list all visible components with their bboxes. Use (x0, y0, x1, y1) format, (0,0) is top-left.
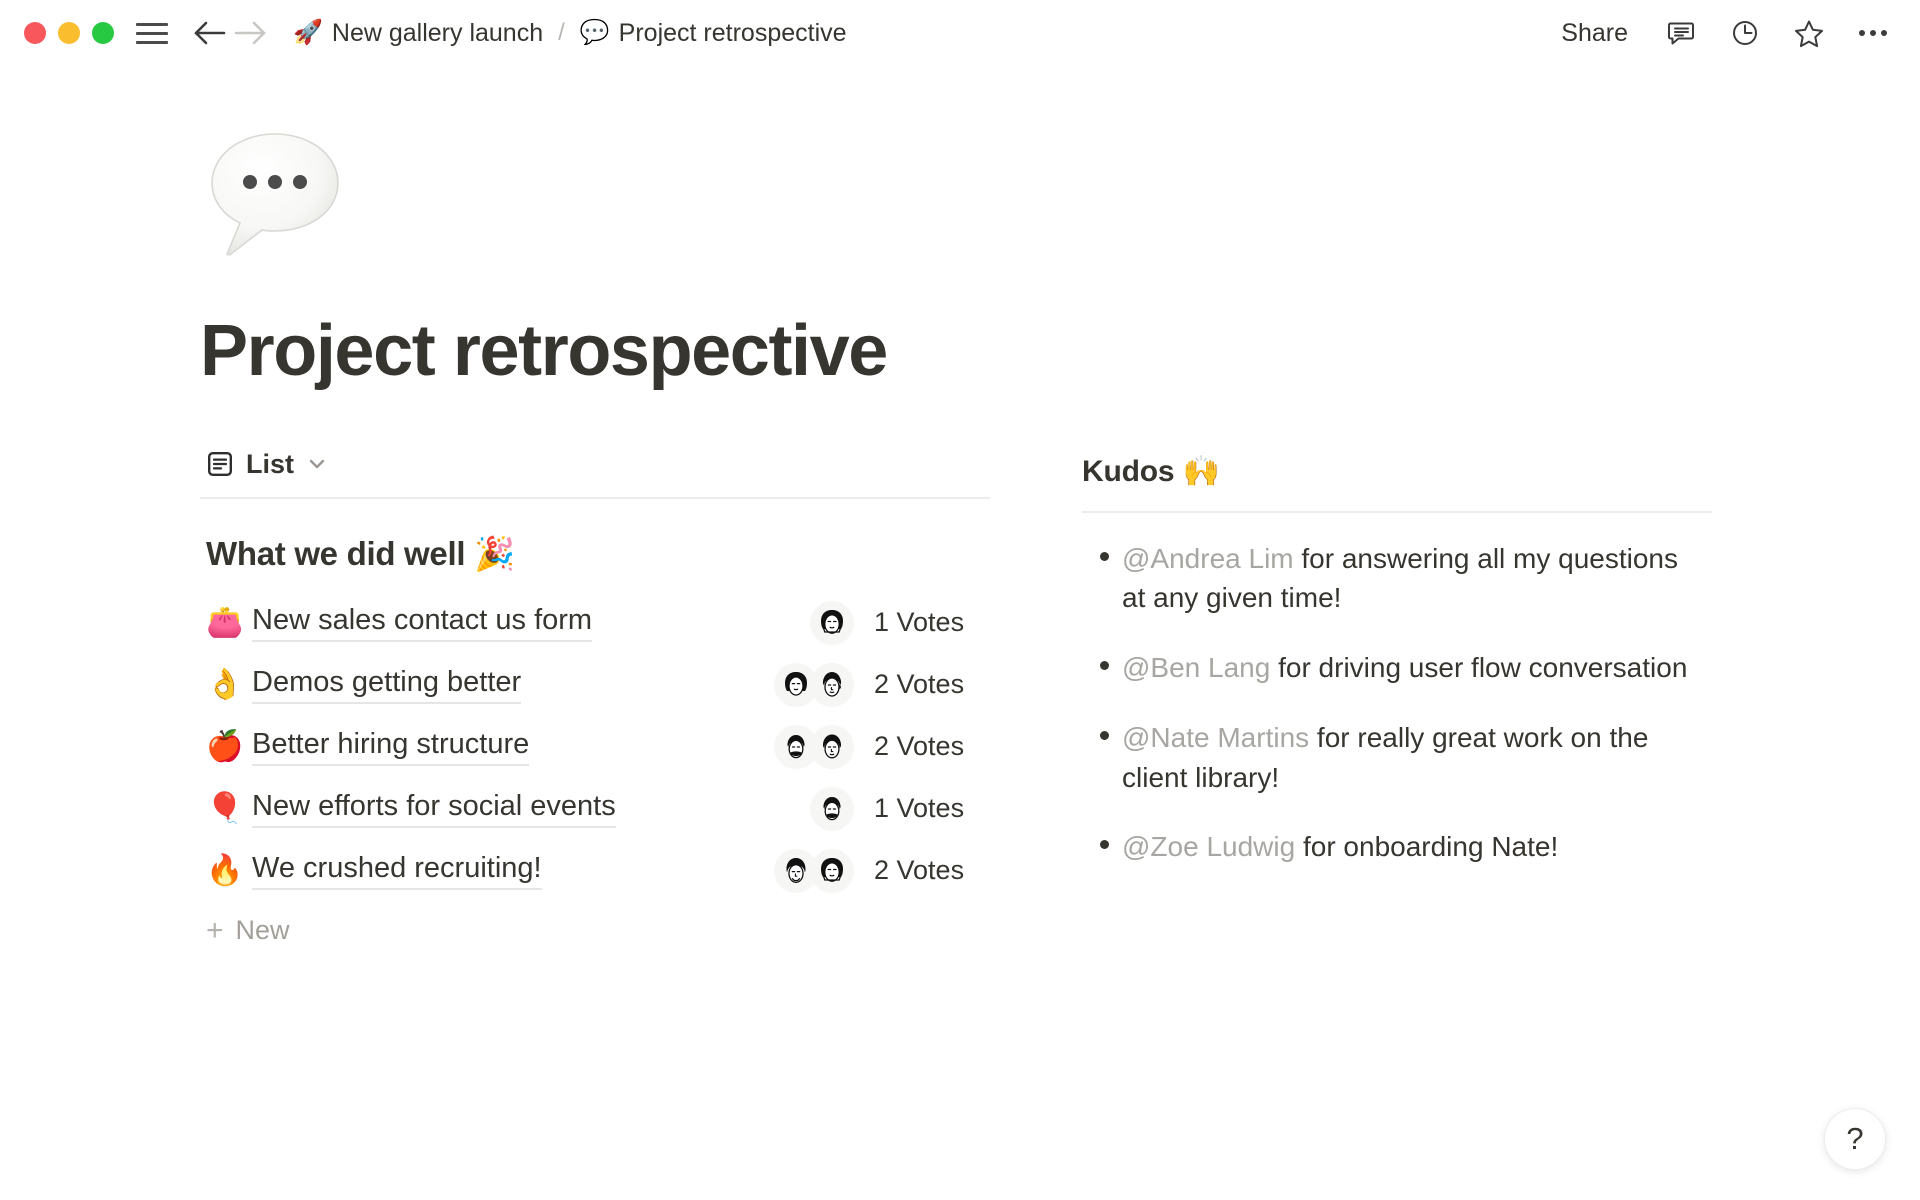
kudos-text: @Nate Martins for really great work on t… (1122, 718, 1702, 798)
close-window-button[interactable] (24, 22, 46, 44)
table-row[interactable]: 🎈 New efforts for social events (200, 778, 990, 840)
database-column: List What we did well 🎉 👛 New sales cont… (200, 446, 990, 960)
breadcrumb-current-label: Project retrospective (619, 19, 847, 48)
bullet-icon (1086, 827, 1122, 849)
kudos-column: Kudos 🙌 @Andrea Lim for answering all my… (1082, 446, 1712, 898)
add-new-row-button[interactable]: + New (200, 902, 990, 960)
row-meta: 1 Votes (750, 601, 984, 645)
list-item[interactable]: @Ben Lang for driving user flow conversa… (1086, 648, 1712, 688)
row-title[interactable]: New sales contact us form (252, 604, 592, 642)
kudos-divider (1082, 511, 1712, 513)
comments-icon (1667, 19, 1695, 47)
arrow-left-icon (193, 20, 227, 46)
row-emoji-icon: 🔥 (206, 856, 252, 886)
arrow-right-icon (233, 20, 267, 46)
window-toolbar: 🚀 New gallery launch / 💬 Project retrosp… (0, 0, 1920, 66)
list-item[interactable]: @Nate Martins for really great work on t… (1086, 718, 1712, 798)
avatar-face-icon (812, 665, 852, 705)
kudos-heading[interactable]: Kudos 🙌 (1082, 454, 1712, 489)
votes-count: 2 Votes (874, 731, 984, 762)
votes-count: 1 Votes (874, 607, 984, 638)
share-button[interactable]: Share (1553, 15, 1636, 52)
votes-count: 2 Votes (874, 855, 984, 886)
database-view-label: List (246, 449, 294, 480)
voter-avatars (750, 725, 854, 769)
kudos-text: @Ben Lang for driving user flow conversa… (1122, 648, 1687, 688)
list-item[interactable]: @Andrea Lim for answering all my questio… (1086, 539, 1712, 619)
chevron-down-icon (306, 453, 328, 475)
row-emoji-icon: 👌 (206, 670, 252, 700)
avatar-face-icon (812, 603, 852, 643)
rocket-icon: 🚀 (293, 21, 323, 45)
database-view-selector[interactable]: List (200, 446, 334, 483)
avatar-face-icon (812, 851, 852, 891)
row-emoji-icon: 👛 (206, 608, 252, 638)
page-icon[interactable] (200, 120, 350, 270)
kudos-text: @Zoe Ludwig for onboarding Nate! (1122, 827, 1558, 867)
page-title[interactable]: Project retrospective (200, 314, 1920, 390)
row-emoji-icon: 🎈 (206, 794, 252, 824)
add-new-label: New (236, 915, 290, 946)
list-item[interactable]: @Zoe Ludwig for onboarding Nate! (1086, 827, 1712, 867)
maximize-window-button[interactable] (92, 22, 114, 44)
help-button[interactable]: ? (1824, 1108, 1886, 1170)
breadcrumb-separator: / (558, 19, 565, 47)
database-rows: 👛 New sales contact us form (200, 592, 990, 902)
kudos-body: for onboarding Nate! (1295, 831, 1558, 862)
row-emoji-icon: 🍎 (206, 732, 252, 762)
updates-button[interactable] (1726, 14, 1764, 52)
avatar[interactable] (810, 849, 854, 893)
row-meta: 2 Votes (750, 849, 984, 893)
voter-avatars (750, 663, 854, 707)
mention-link[interactable]: @Zoe Ludwig (1122, 831, 1295, 862)
table-row[interactable]: 👛 New sales contact us form (200, 592, 990, 654)
clock-history-icon (1731, 19, 1759, 47)
breadcrumb-parent-label: New gallery launch (332, 19, 543, 48)
kudos-list: @Andrea Lim for answering all my questio… (1082, 539, 1712, 868)
speech-balloon-icon: 💬 (580, 21, 610, 45)
row-title[interactable]: Demos getting better (252, 666, 521, 704)
section-heading[interactable]: What we did well 🎉 (206, 535, 990, 574)
voter-avatars (750, 787, 854, 831)
row-meta: 1 Votes (750, 787, 984, 831)
avatar[interactable] (810, 725, 854, 769)
database-divider (200, 497, 990, 499)
row-title[interactable]: We crushed recruiting! (252, 852, 542, 890)
content-columns: List What we did well 🎉 👛 New sales cont… (200, 446, 1920, 960)
mention-link[interactable]: @Nate Martins (1122, 722, 1309, 753)
votes-count: 2 Votes (874, 669, 984, 700)
window-controls (24, 22, 114, 44)
favorite-button[interactable] (1790, 14, 1828, 52)
bullet-icon (1086, 718, 1122, 740)
toolbar-actions: Share (1553, 14, 1892, 52)
kudos-body: for driving user flow conversation (1270, 652, 1687, 683)
row-title[interactable]: Better hiring structure (252, 728, 529, 766)
back-button[interactable] (190, 13, 230, 53)
table-row[interactable]: 🍎 Better hiring structure (200, 716, 990, 778)
table-row[interactable]: 👌 Demos getting better (200, 654, 990, 716)
speech-balloon-icon (200, 120, 350, 270)
avatar[interactable] (810, 601, 854, 645)
votes-count: 1 Votes (874, 793, 984, 824)
bullet-icon (1086, 648, 1122, 670)
row-meta: 2 Votes (750, 725, 984, 769)
more-options-button[interactable] (1854, 14, 1892, 52)
star-icon (1794, 19, 1824, 48)
mention-link[interactable]: @Andrea Lim (1122, 543, 1294, 574)
more-options-icon (1859, 30, 1887, 36)
comments-button[interactable] (1662, 14, 1700, 52)
avatar[interactable] (810, 787, 854, 831)
row-title[interactable]: New efforts for social events (252, 790, 616, 828)
breadcrumb: 🚀 New gallery launch / 💬 Project retrosp… (288, 16, 852, 51)
minimize-window-button[interactable] (58, 22, 80, 44)
page-body: Project retrospective List What we did w… (0, 66, 1920, 960)
voter-avatars (750, 601, 854, 645)
voter-avatars (750, 849, 854, 893)
kudos-text: @Andrea Lim for answering all my questio… (1122, 539, 1702, 619)
avatar[interactable] (810, 663, 854, 707)
row-meta: 2 Votes (750, 663, 984, 707)
forward-button[interactable] (230, 13, 270, 53)
bullet-icon (1086, 539, 1122, 561)
mention-link[interactable]: @Ben Lang (1122, 652, 1270, 683)
list-view-icon (206, 450, 234, 478)
breadcrumb-item-current[interactable]: 💬 Project retrospective (575, 16, 852, 51)
table-row[interactable]: 🔥 We crushed recruiting! (200, 840, 990, 902)
avatar-face-icon (812, 789, 852, 829)
plus-icon: + (206, 916, 224, 946)
hamburger-menu-icon[interactable] (136, 20, 168, 46)
breadcrumb-item-parent[interactable]: 🚀 New gallery launch (288, 16, 548, 51)
avatar-face-icon (812, 727, 852, 767)
